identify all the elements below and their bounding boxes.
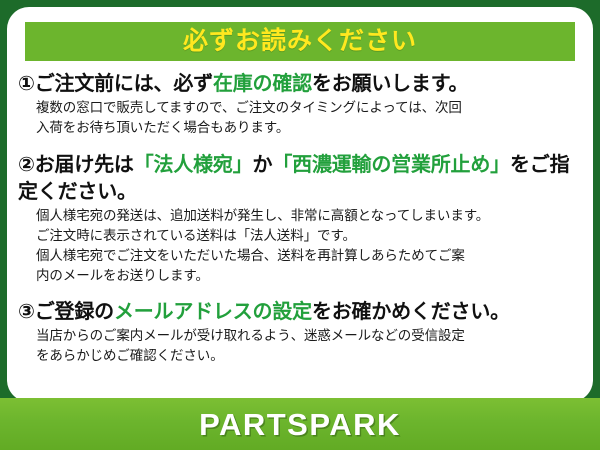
item-2-heading-part-2: か [253, 154, 273, 176]
notice-footer: PARTSPARK [0, 398, 600, 450]
item-1-heading-highlight: 在庫の確認 [213, 73, 312, 95]
item-1-heading-part-2: をお願いします。 [312, 73, 468, 95]
item-2-marker: ② [18, 154, 35, 176]
item-2-heading: ②お届け先は「法人様宛」か「西濃運輸の営業所止め」をご指定ください。 [18, 152, 583, 205]
item-3-heading-part-2: をお確かめください。 [312, 301, 510, 323]
notice-frame: 必ずお読みください ①ご注文前には、必ず在庫の確認をお願いします。 複数の窓口で… [0, 0, 600, 450]
item-1-marker: ① [18, 73, 35, 95]
notice-card: 必ずお読みください ①ご注文前には、必ず在庫の確認をお願いします。 複数の窓口で… [7, 7, 593, 402]
item-3-heading-part-0: ご登録の [35, 301, 114, 323]
item-1-body: 複数の窓口で販売してますので、ご注文のタイミングによっては、次回 入荷をお待ち頂… [36, 98, 583, 138]
item-2-heading-part-0: お届け先は [35, 154, 134, 176]
item-1-heading: ①ご注文前には、必ず在庫の確認をお願いします。 [18, 71, 583, 97]
item-1-heading-part-0: ご注文前には、必ず [35, 73, 213, 95]
item-3-heading-highlight: メールアドレスの設定 [114, 301, 312, 323]
item-3-heading: ③ご登録のメールアドレスの設定をお確かめください。 [18, 299, 583, 325]
item-2-body: 個人様宅宛の発送は、追加送料が発生し、非常に高額となってしまいます。 ご注文時に… [36, 206, 583, 286]
banner-title: 必ずお読みください [183, 29, 417, 54]
item-3-marker: ③ [18, 301, 35, 323]
item-3-body: 当店からのご案内メールが受け取れるよう、迷惑メールなどの受信設定 をあらかじめご… [36, 326, 583, 366]
notice-item-1: ①ご注文前には、必ず在庫の確認をお願いします。 複数の窓口で販売してますので、ご… [18, 71, 583, 138]
notice-banner: 必ずお読みください [25, 22, 575, 61]
item-2-heading-highlight-1: 「法人様宛」 [134, 154, 253, 176]
brand-logo: PARTSPARK [199, 409, 401, 440]
notice-item-2: ②お届け先は「法人様宛」か「西濃運輸の営業所止め」をご指定ください。 個人様宅宛… [18, 152, 583, 286]
notice-body: ①ご注文前には、必ず在庫の確認をお願いします。 複数の窓口で販売してますので、ご… [7, 69, 593, 368]
item-2-heading-highlight-2: 「西濃運輸の営業所止め」 [272, 154, 510, 176]
notice-item-3: ③ご登録のメールアドレスの設定をお確かめください。 当店からのご案内メールが受け… [18, 299, 583, 366]
